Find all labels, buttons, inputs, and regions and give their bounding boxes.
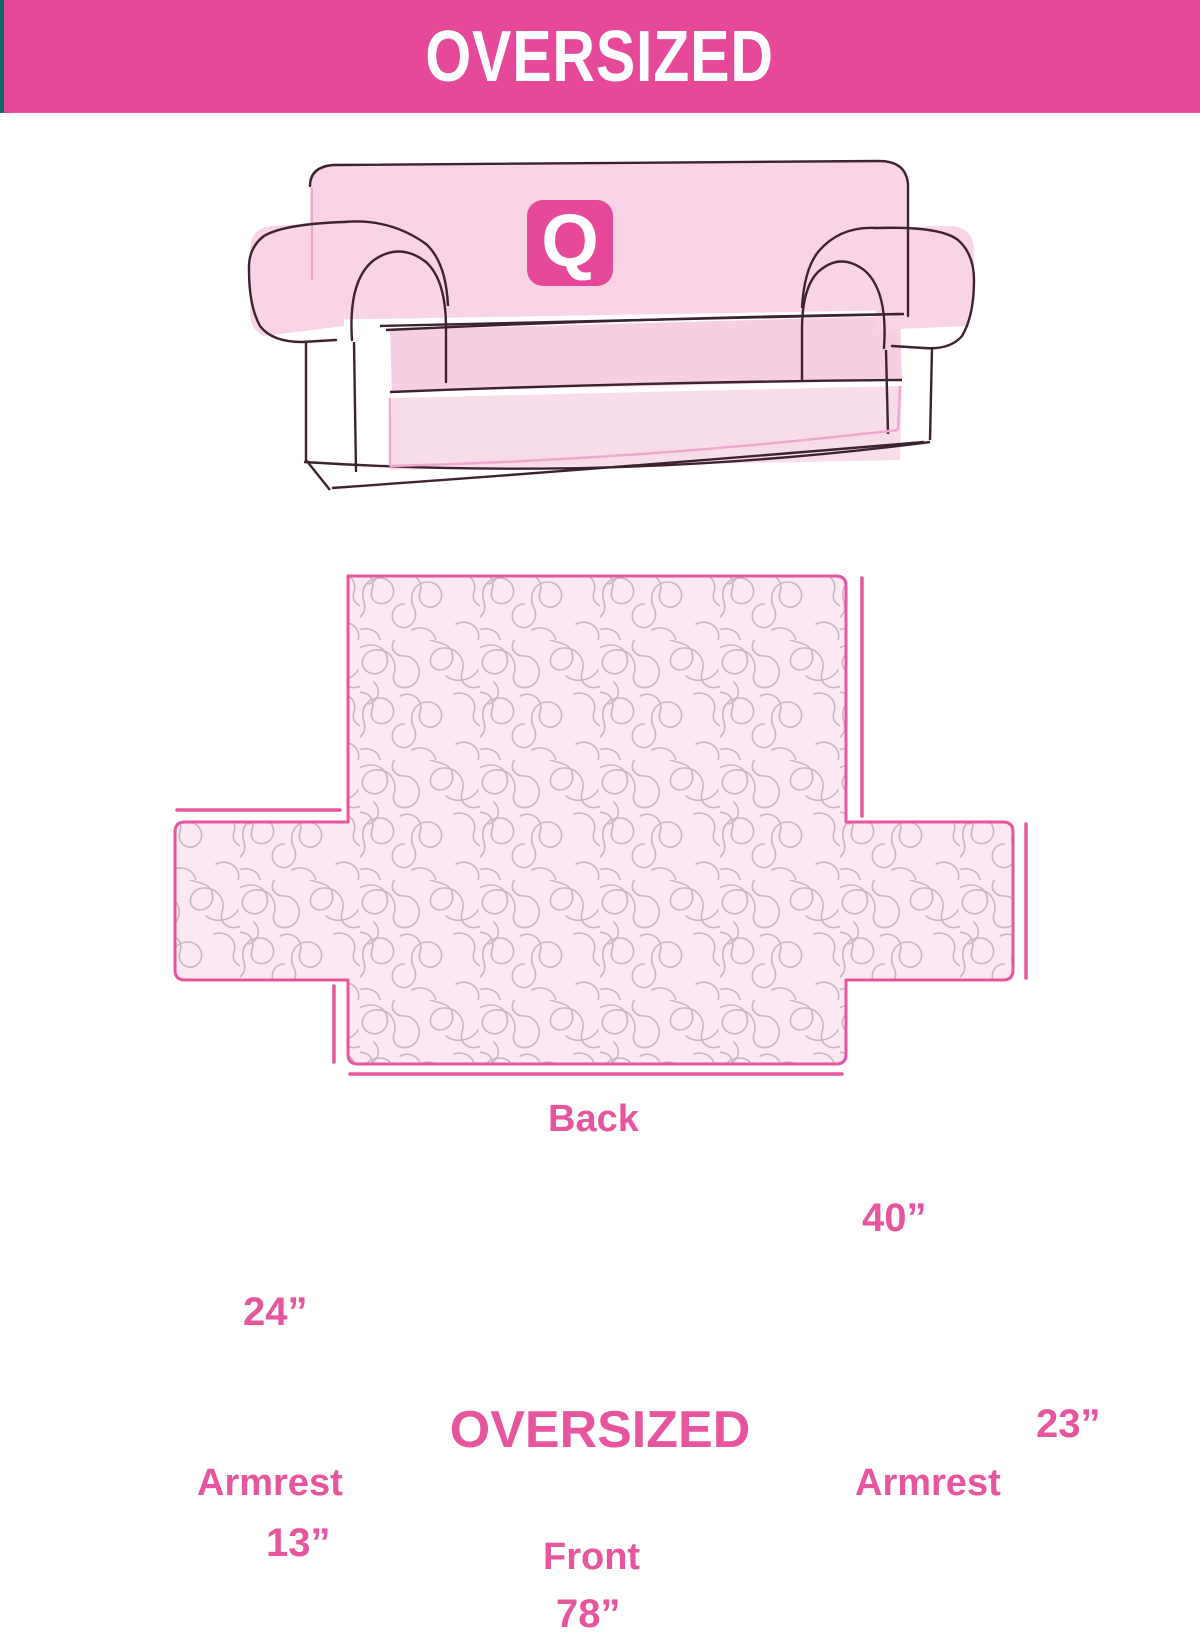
measurement-label-front-height: 13” bbox=[266, 1523, 331, 1563]
measurement-label-total-width: 78” bbox=[556, 1594, 621, 1634]
panel-label-back: Back bbox=[548, 1100, 639, 1138]
brand-logo-badge: Q bbox=[527, 200, 613, 286]
dimension-diagram-svg bbox=[0, 520, 1200, 1140]
panel-label-armrest-left: Armrest bbox=[197, 1464, 343, 1502]
panel-label-armrest-right: Armrest bbox=[855, 1464, 1001, 1502]
sofa-front-fill bbox=[390, 386, 902, 470]
sofa-left-arm-fill bbox=[250, 222, 344, 336]
sofa-right-arm-front bbox=[930, 348, 932, 440]
banner-left-edge-stripe bbox=[0, 0, 4, 113]
sofa-left-arm-front bbox=[306, 342, 330, 490]
diagram-center-label: OVERSIZED bbox=[0, 1404, 1200, 1456]
sofa-illustration: Q bbox=[240, 130, 980, 520]
dimension-diagram: Back Front Armrest Armrest 40” 24” 23” 1… bbox=[0, 520, 1200, 1140]
measurement-label-armrest-width: 24” bbox=[243, 1292, 308, 1332]
cover-shape bbox=[175, 576, 1013, 1064]
panel-label-front: Front bbox=[543, 1538, 640, 1576]
banner-title: OVERSIZED bbox=[426, 21, 775, 93]
sofa-drawing-svg bbox=[240, 130, 980, 520]
measurement-label-back-height: 40” bbox=[862, 1198, 927, 1238]
sofa-left-arm-front-seam bbox=[354, 342, 356, 472]
brand-logo-letter: Q bbox=[541, 204, 599, 278]
header-banner: OVERSIZED bbox=[0, 0, 1200, 113]
